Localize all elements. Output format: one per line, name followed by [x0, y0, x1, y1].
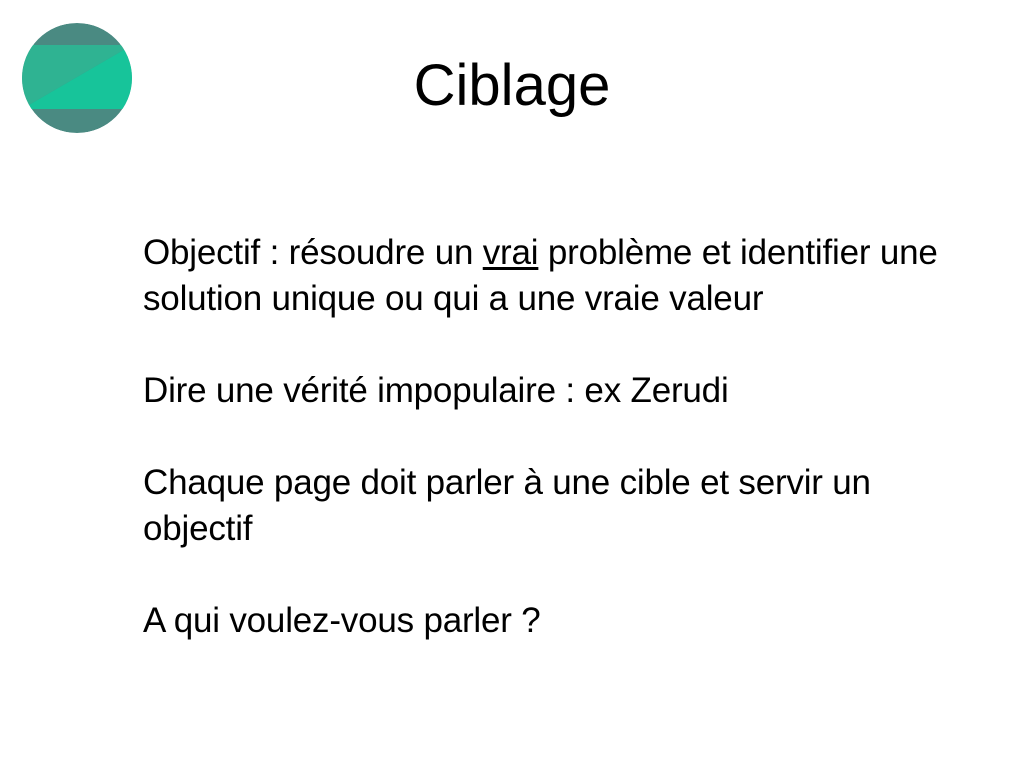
body-content: Objectif : résoudre un vrai problème et …	[143, 230, 973, 644]
paragraph-text: Chaque page doit parler à une cible et s…	[143, 463, 871, 548]
paragraph-text: Dire une vérité impopulaire : ex Zerudi	[143, 371, 729, 410]
paragraph-text: Objectif : résoudre un	[143, 233, 483, 272]
paragraph-text: A qui voulez-vous parler ?	[143, 601, 541, 640]
paragraph-objectif: Objectif : résoudre un vrai problème et …	[143, 230, 973, 322]
paragraph-verite: Dire une vérité impopulaire : ex Zerudi	[143, 368, 973, 414]
slide: Ciblage Objectif : résoudre un vrai prob…	[0, 0, 1024, 768]
emphasis-underlined-vrai: vrai	[483, 233, 539, 272]
page-title: Ciblage	[0, 52, 1024, 120]
paragraph-a-qui: A qui voulez-vous parler ?	[143, 598, 973, 644]
paragraph-chaque-page: Chaque page doit parler à une cible et s…	[143, 460, 973, 552]
